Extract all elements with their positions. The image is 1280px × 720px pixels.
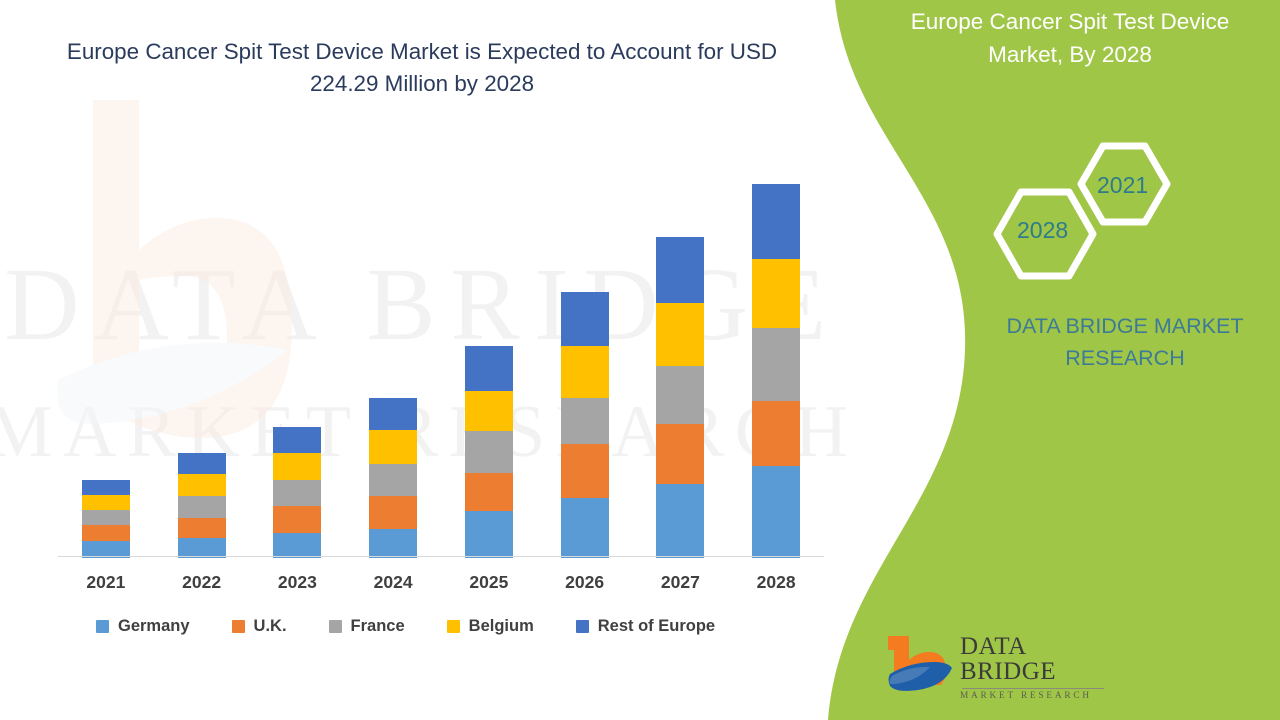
hexagon-badges: 2021 2028 <box>975 140 1195 290</box>
bar-group-2028[interactable] <box>752 184 800 558</box>
x-axis-label-2025: 2025 <box>441 572 537 593</box>
x-axis-label-2026: 2026 <box>537 572 633 593</box>
logo-primary-text: DATA BRIDGE <box>960 634 1110 684</box>
bar-segment[interactable] <box>752 259 800 328</box>
bar-segment[interactable] <box>369 464 417 496</box>
data-bridge-logo-icon <box>888 632 952 694</box>
bar-segment[interactable] <box>82 525 130 541</box>
legend-item-france[interactable]: France <box>329 617 405 636</box>
bar-segment[interactable] <box>656 484 704 558</box>
bar-segment[interactable] <box>752 466 800 558</box>
bar-segment[interactable] <box>465 346 513 391</box>
hexagon-label-2021: 2021 <box>1097 172 1148 199</box>
bar-segment[interactable] <box>273 480 321 506</box>
legend-swatch-icon <box>576 620 589 633</box>
legend-item-germany[interactable]: Germany <box>96 617 190 636</box>
bar-segment[interactable] <box>178 538 226 558</box>
x-axis-labels: 20212022202320242025202620272028 <box>58 572 824 600</box>
bar-segment[interactable] <box>369 430 417 464</box>
bar-segment[interactable] <box>752 401 800 466</box>
bar-segment[interactable] <box>273 506 321 533</box>
logo-wordmark: DATA BRIDGE MARKET RESEARCH <box>960 634 1110 701</box>
bar-segment[interactable] <box>369 496 417 529</box>
bar-segment[interactable] <box>656 237 704 303</box>
bar-segment[interactable] <box>561 498 609 558</box>
bar-segment[interactable] <box>656 366 704 424</box>
bar-segment[interactable] <box>178 474 226 496</box>
panel-title: Europe Cancer Spit Test Device Market, B… <box>880 6 1260 71</box>
bar-group-2022[interactable] <box>178 453 226 558</box>
bar-segment[interactable] <box>178 496 226 518</box>
bar-segment[interactable] <box>656 424 704 484</box>
legend-label: U.K. <box>254 617 287 636</box>
bar-segment[interactable] <box>273 427 321 453</box>
bar-segment[interactable] <box>465 473 513 511</box>
bar-segment[interactable] <box>273 533 321 558</box>
bar-segment[interactable] <box>465 511 513 558</box>
bar-segment[interactable] <box>369 529 417 558</box>
legend-item-belgium[interactable]: Belgium <box>447 617 534 636</box>
bar-chart-plot <box>58 170 824 558</box>
bar-segment[interactable] <box>561 444 609 498</box>
bar-group-2026[interactable] <box>561 292 609 558</box>
x-axis-label-2024: 2024 <box>345 572 441 593</box>
legend-swatch-icon <box>232 620 245 633</box>
legend-label: Germany <box>118 617 190 636</box>
bar-segment[interactable] <box>465 391 513 431</box>
bar-segment[interactable] <box>82 510 130 525</box>
bar-segment[interactable] <box>178 518 226 538</box>
legend-swatch-icon <box>329 620 342 633</box>
page-title: Europe Cancer Spit Test Device Market is… <box>62 36 782 100</box>
legend-item-rest-of-europe[interactable]: Rest of Europe <box>576 617 715 636</box>
brand-name-text: DATA BRIDGE MARKET RESEARCH <box>960 310 1280 375</box>
x-axis-label-2021: 2021 <box>58 572 154 593</box>
bar-group-2023[interactable] <box>273 427 321 558</box>
bar-segment[interactable] <box>82 480 130 495</box>
legend-label: France <box>351 617 405 636</box>
chart-legend: GermanyU.K.FranceBelgiumRest of Europe <box>96 612 757 640</box>
legend-label: Rest of Europe <box>598 617 715 636</box>
legend-swatch-icon <box>96 620 109 633</box>
x-axis-label-2023: 2023 <box>249 572 345 593</box>
legend-label: Belgium <box>469 617 534 636</box>
bar-segment[interactable] <box>752 328 800 401</box>
bar-group-2024[interactable] <box>369 398 417 558</box>
bar-segment[interactable] <box>82 495 130 510</box>
company-logo: DATA BRIDGE MARKET RESEARCH <box>888 632 1108 702</box>
bar-segment[interactable] <box>561 398 609 444</box>
logo-secondary-text: MARKET RESEARCH <box>960 692 1110 701</box>
x-axis-label-2027: 2027 <box>632 572 728 593</box>
hexagon-label-2028: 2028 <box>1017 217 1068 244</box>
bar-group-2027[interactable] <box>656 237 704 558</box>
bar-segment[interactable] <box>369 398 417 430</box>
bar-segment[interactable] <box>561 346 609 398</box>
bar-group-2025[interactable] <box>465 346 513 558</box>
bar-segment[interactable] <box>656 303 704 366</box>
bar-segment[interactable] <box>178 453 226 474</box>
bar-segment[interactable] <box>273 453 321 480</box>
legend-item-u-k[interactable]: U.K. <box>232 617 287 636</box>
bar-segment[interactable] <box>561 292 609 346</box>
logo-divider <box>962 688 1104 689</box>
x-axis-label-2022: 2022 <box>154 572 250 593</box>
legend-swatch-icon <box>447 620 460 633</box>
infographic-canvas: DATA BRIDGE MARKET RESEARCH Europe Cance… <box>0 0 1280 720</box>
x-axis-line <box>58 556 824 557</box>
bar-segment[interactable] <box>752 184 800 259</box>
bar-group-2021[interactable] <box>82 480 130 558</box>
bar-segment[interactable] <box>465 431 513 473</box>
